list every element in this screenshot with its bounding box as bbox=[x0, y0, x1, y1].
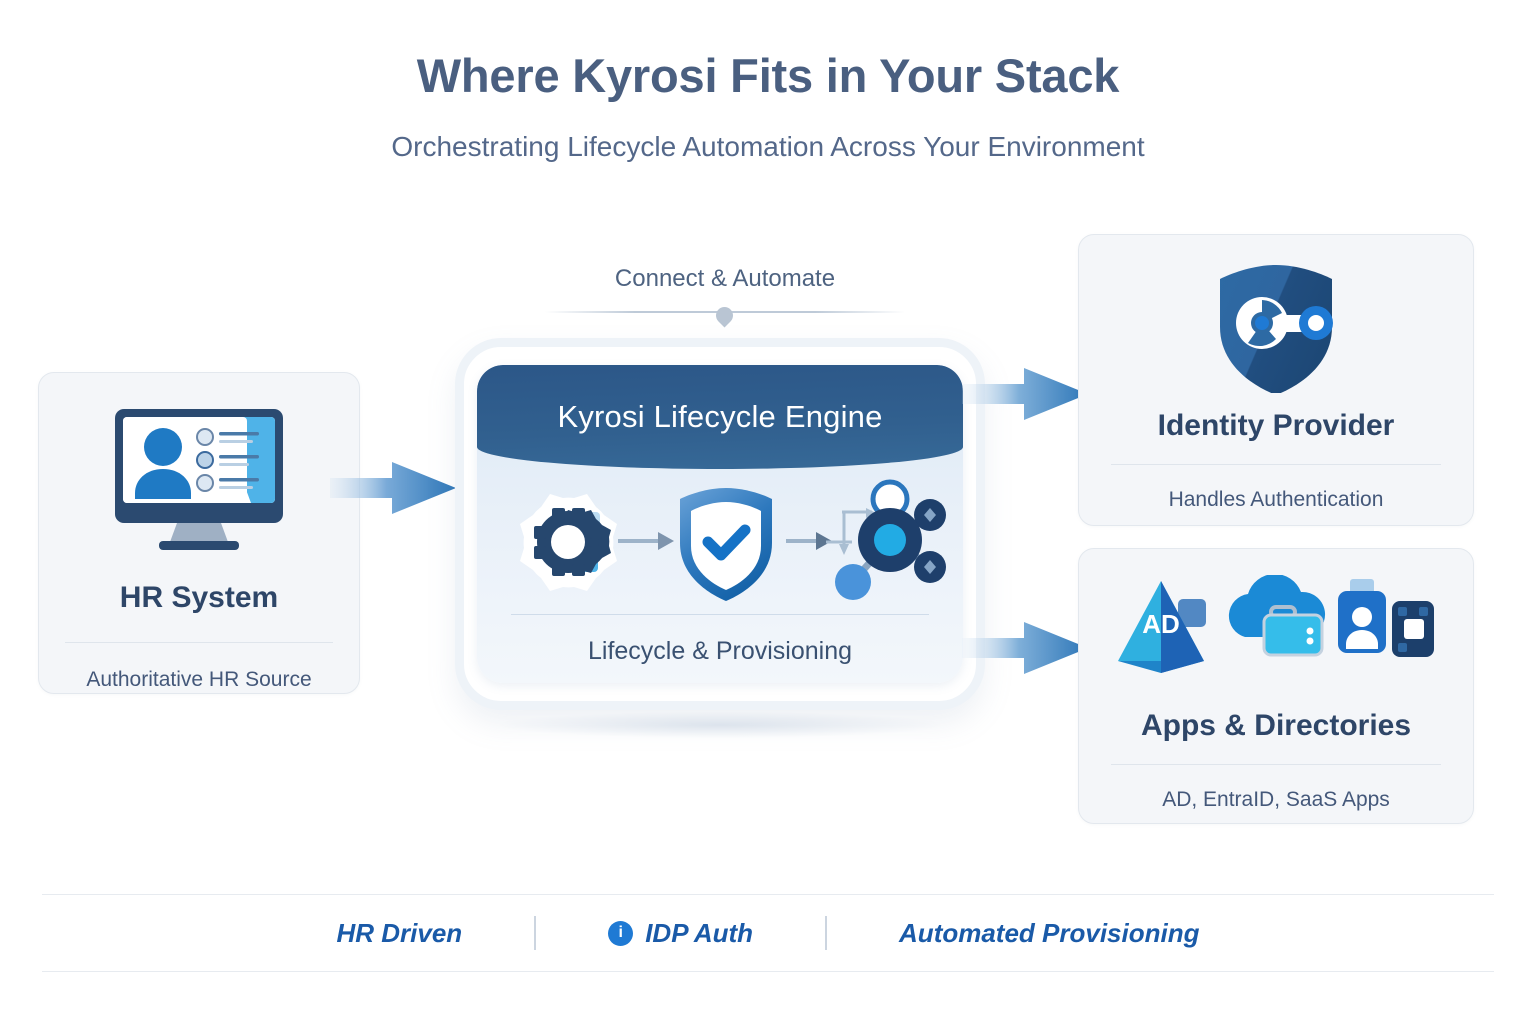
gear-icon bbox=[520, 494, 617, 591]
engine-subtitle: Lifecycle & Provisioning bbox=[477, 615, 963, 666]
footer-separator bbox=[825, 916, 827, 950]
hr-system-card[interactable]: HR System Authoritative HR Source bbox=[38, 372, 360, 694]
footer-label-idp-auth: IDP Auth bbox=[645, 918, 753, 949]
connect-automate-annotation: Connect & Automate bbox=[545, 265, 905, 317]
identity-provider-card[interactable]: Identity Provider Handles Authentication bbox=[1078, 234, 1474, 526]
footer-label-hr-driven: HR Driven bbox=[336, 918, 462, 949]
badge-person-icon bbox=[1338, 579, 1386, 653]
footer-item-idp-auth[interactable]: i IDP Auth bbox=[608, 918, 753, 949]
arrow-hr-to-engine bbox=[330, 452, 460, 529]
ad-label: AD bbox=[1142, 609, 1180, 639]
arrow-gear-to-shield bbox=[618, 532, 674, 550]
card-divider bbox=[65, 642, 334, 643]
engine-title: Kyrosi Lifecycle Engine bbox=[557, 399, 882, 435]
footer-item-automated-provisioning[interactable]: Automated Provisioning bbox=[899, 918, 1199, 949]
engine-flow-icons bbox=[477, 469, 963, 614]
apps-directories-card[interactable]: AD bbox=[1078, 548, 1474, 824]
identity-provider-subtitle: Handles Authentication bbox=[1169, 487, 1384, 512]
apps-directories-icon-row: AD bbox=[1116, 575, 1436, 687]
card-divider bbox=[1111, 764, 1442, 765]
connect-automate-line bbox=[545, 307, 905, 317]
engine-drop-shadow bbox=[500, 712, 940, 738]
page-header: Where Kyrosi Fits in Your Stack Orchestr… bbox=[0, 0, 1536, 164]
monitor-employee-record-icon bbox=[101, 405, 297, 555]
identity-provider-title: Identity Provider bbox=[1158, 409, 1395, 444]
page-subtitle: Orchestrating Lifecycle Automation Acros… bbox=[0, 130, 1536, 164]
arrow-engine-to-idp bbox=[962, 358, 1092, 435]
connector-marker-icon bbox=[712, 303, 736, 327]
footer-separator bbox=[534, 916, 536, 950]
info-icon: i bbox=[608, 921, 633, 946]
arrow-shield-to-network bbox=[786, 532, 832, 550]
mobile-app-icon bbox=[1392, 601, 1434, 657]
cloud-briefcase-icon bbox=[1229, 575, 1325, 655]
footer-label-automated-provisioning: Automated Provisioning bbox=[899, 918, 1199, 949]
apps-directories-title: Apps & Directories bbox=[1141, 709, 1411, 744]
footer-bar: HR Driven i IDP Auth Automated Provision… bbox=[42, 894, 1494, 972]
kyrosi-lifecycle-engine-panel[interactable]: Kyrosi Lifecycle Engine bbox=[477, 365, 963, 683]
page-title: Where Kyrosi Fits in Your Stack bbox=[0, 48, 1536, 104]
apps-directories-subtitle: AD, EntraID, SaaS Apps bbox=[1162, 787, 1390, 812]
arrow-engine-to-apps bbox=[962, 612, 1092, 689]
hr-system-subtitle: Authoritative HR Source bbox=[86, 667, 311, 692]
hr-system-title: HR System bbox=[120, 581, 278, 616]
engine-header-band: Kyrosi Lifecycle Engine bbox=[477, 365, 963, 469]
shield-key-icon bbox=[1204, 261, 1348, 393]
card-divider bbox=[1111, 464, 1442, 465]
footer-item-hr-driven[interactable]: HR Driven bbox=[336, 918, 462, 949]
connect-automate-label: Connect & Automate bbox=[545, 265, 905, 293]
network-nodes-icon bbox=[826, 482, 946, 600]
shield-check-icon bbox=[680, 488, 772, 601]
azure-ad-pyramid-icon: AD bbox=[1118, 581, 1206, 673]
